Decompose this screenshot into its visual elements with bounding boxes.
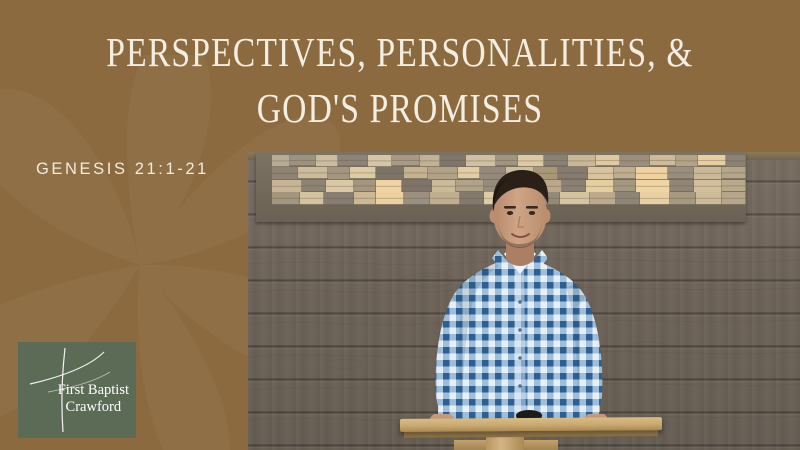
pulpit-base <box>454 440 558 450</box>
speaker-figure <box>248 152 800 450</box>
sermon-title-slide: PERSPECTIVES, PERSONALITIES, & GOD'S PRO… <box>0 0 800 450</box>
stone-veneer-band <box>272 155 746 205</box>
logo-text: First Baptist Crawford <box>58 382 129 416</box>
stone-tiles <box>272 155 746 205</box>
logo-line-2: Crawford <box>58 399 129 416</box>
pulpit-edge <box>404 428 658 438</box>
slide-title: PERSPECTIVES, PERSONALITIES, & GOD'S PRO… <box>18 24 782 136</box>
wall-trim-top <box>248 152 800 160</box>
scripture-reference: GENESIS 21:1-21 <box>36 160 209 179</box>
church-logo: First Baptist Crawford <box>18 342 136 438</box>
pulpit-top <box>400 417 662 432</box>
photo-contents <box>248 152 800 450</box>
title-line-2: GOD'S PROMISES <box>87 80 713 136</box>
title-line-1: PERSPECTIVES, PERSONALITIES, & <box>87 24 713 80</box>
stone-band-frame <box>256 152 746 222</box>
logo-line-1: First Baptist <box>58 382 129 398</box>
pulpit-stem <box>486 435 524 450</box>
wood-grain <box>248 152 800 450</box>
wood-plank-wall <box>248 152 800 450</box>
microphone <box>516 410 542 421</box>
sermon-video-thumbnail[interactable] <box>248 152 800 450</box>
